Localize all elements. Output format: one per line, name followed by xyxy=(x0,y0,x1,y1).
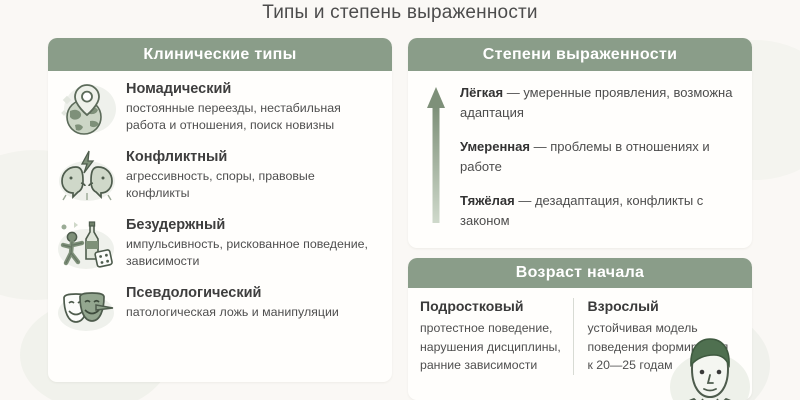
list-item: Тяжёлая — дезадаптация, конфликты с зако… xyxy=(460,191,738,230)
severity-dash: — xyxy=(503,85,523,100)
age-column-title: Взрослый xyxy=(588,298,731,314)
list-item-title: Номадический xyxy=(126,81,378,98)
list-item-title: Конфликтный xyxy=(126,149,378,166)
list-item: Псевдологический патологическая ложь и м… xyxy=(56,281,382,343)
page-title: Типы и степень выраженности xyxy=(0,2,800,24)
clinical-types-card: Клинические типы Номадический xyxy=(48,38,392,382)
severity-dash: — xyxy=(530,139,550,154)
list-item-text: Псевдологический патологическая ложь и м… xyxy=(126,281,339,321)
severity-body: Лёгкая — умеренные проявления, возможна … xyxy=(408,71,752,230)
clinical-types-header: Клинические типы xyxy=(48,38,392,71)
list-item: Конфликтный агрессивность, споры, правов… xyxy=(56,145,382,207)
severity-name: Лёгкая xyxy=(460,85,503,100)
age-column-description: устойчивая модель поведения формируется … xyxy=(588,319,731,375)
list-item-description: патологическая ложь и манипуляции xyxy=(126,304,339,322)
list-item-description: постоянные переезды, нестабильная работа… xyxy=(126,100,378,135)
age-of-onset-body: Подростковый протестное поведение, наруш… xyxy=(408,288,752,375)
up-arrow-icon xyxy=(426,83,446,230)
list-item: Лёгкая — умеренные проявления, возможна … xyxy=(460,83,738,122)
age-of-onset-card: Возраст начала Подростковый протестное п… xyxy=(408,258,752,400)
running-man-bottle-dice-icon xyxy=(56,213,118,275)
severity-card: Степени выраженности Лёгкая — умеренные … xyxy=(408,38,752,248)
list-item-text: Номадический постоянные переезды, нестаб… xyxy=(126,77,378,135)
age-column-description: протестное поведение, нарушения дисципли… xyxy=(420,319,563,375)
list-item-text: Конфликтный агрессивность, споры, правов… xyxy=(126,145,378,203)
list-item: Безудержный импульсивность, рискованное … xyxy=(56,213,382,275)
two-arguing-heads-icon xyxy=(56,145,118,207)
age-column-title: Подростковый xyxy=(420,298,563,314)
age-column-adult: Взрослый устойчивая модель поведения фор… xyxy=(573,298,741,375)
list-item: Номадический постоянные переезды, нестаб… xyxy=(56,77,382,139)
list-item-text: Безудержный импульсивность, рискованное … xyxy=(126,213,378,271)
list-item-description: импульсивность, рискованное поведение, з… xyxy=(126,236,378,271)
severity-list: Лёгкая — умеренные проявления, возможна … xyxy=(460,83,738,230)
list-item: Умеренная — проблемы в отношениях и рабо… xyxy=(460,137,738,176)
severity-name: Умеренная xyxy=(460,139,530,154)
list-item-title: Безудержный xyxy=(126,217,378,234)
severity-dash: — xyxy=(515,193,535,208)
list-item-description: агрессивность, споры, правовые конфликты xyxy=(126,168,378,203)
list-item-title: Псевдологический xyxy=(126,285,339,302)
theater-masks-long-nose-icon xyxy=(56,281,118,343)
clinical-types-list: Номадический постоянные переезды, нестаб… xyxy=(48,71,392,343)
globe-location-pin-icon xyxy=(56,77,118,139)
age-of-onset-header: Возраст начала xyxy=(408,258,752,288)
severity-header: Степени выраженности xyxy=(408,38,752,71)
age-column-adolescent: Подростковый протестное поведение, наруш… xyxy=(420,298,573,375)
severity-name: Тяжёлая xyxy=(460,193,515,208)
